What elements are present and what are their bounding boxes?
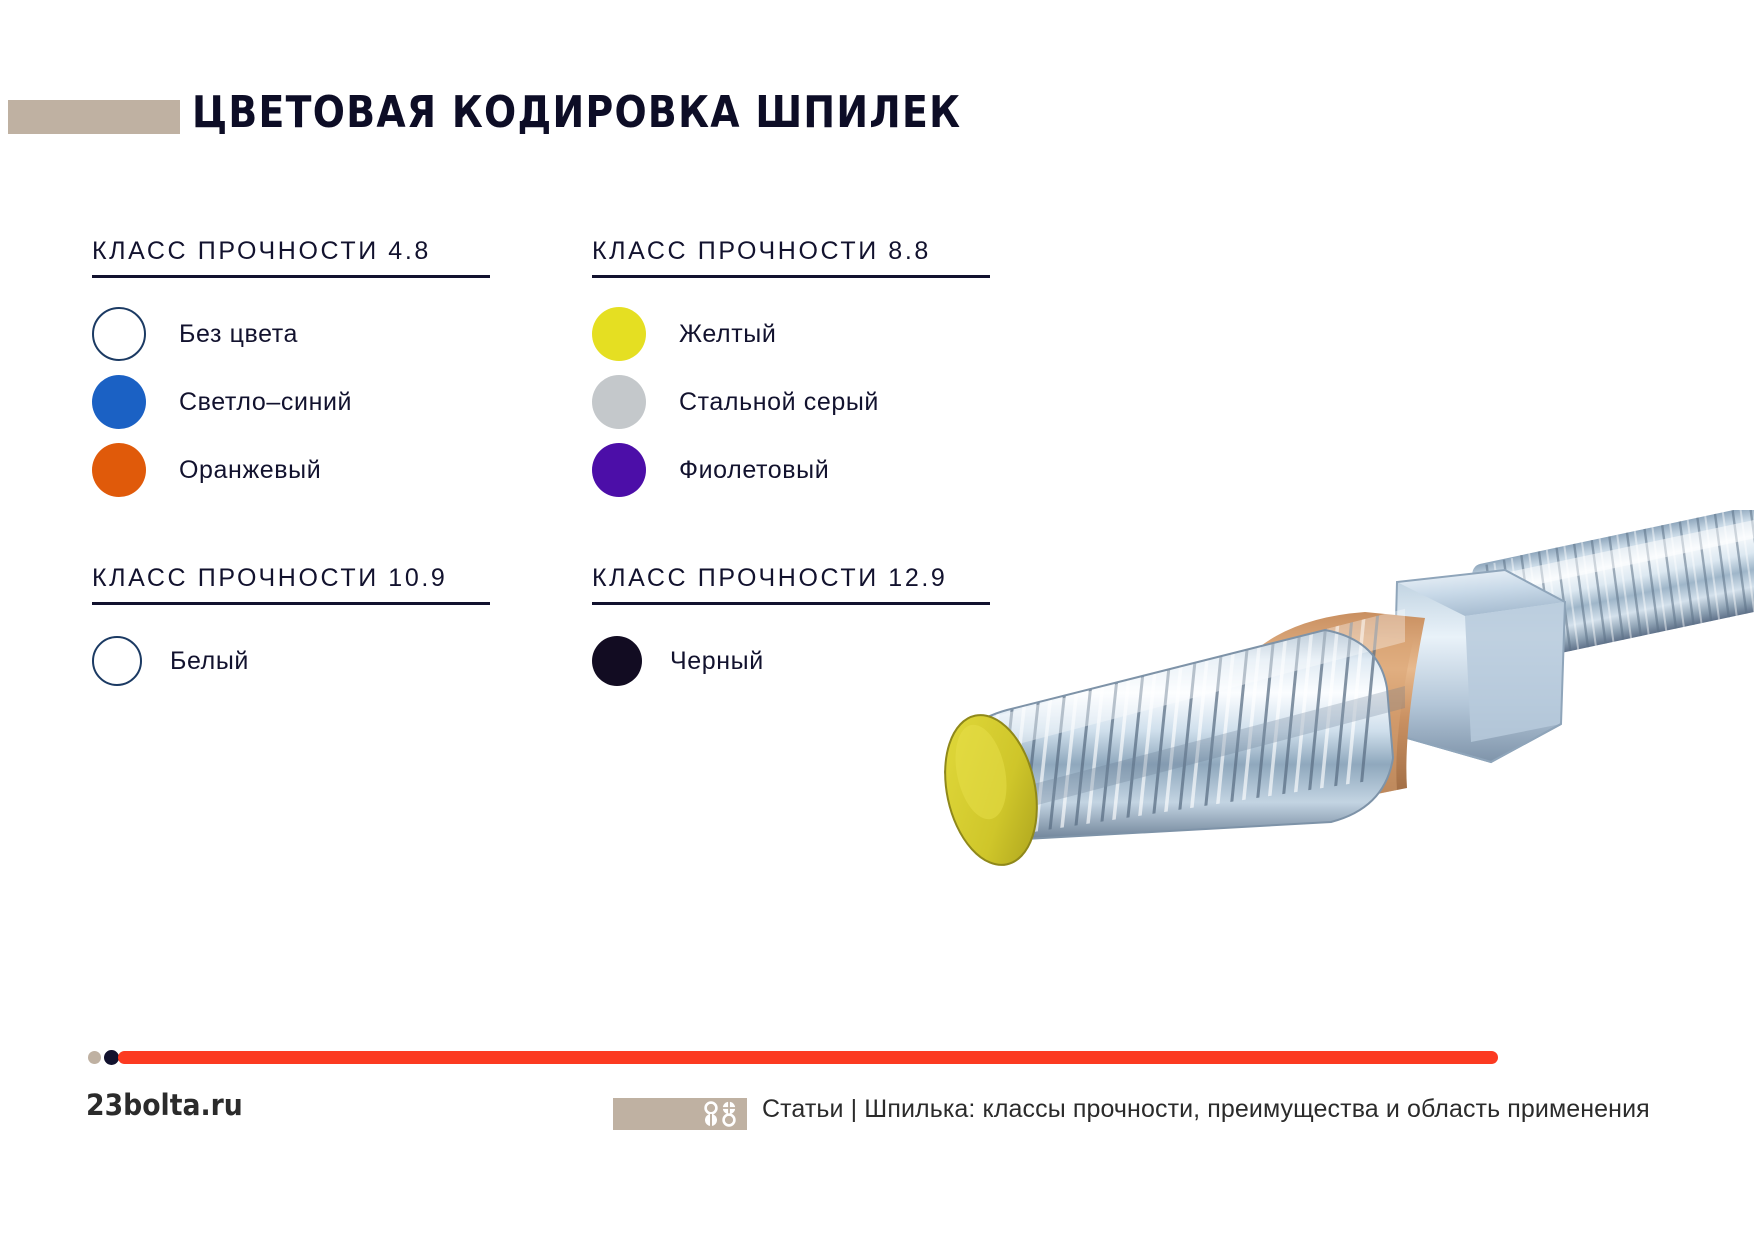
swatch-label: Оранжевый xyxy=(179,456,321,485)
block-divider xyxy=(92,602,490,605)
list-item[interactable]: Светло–синий xyxy=(92,368,532,436)
swatch-list: Белый xyxy=(92,627,532,695)
block-heading: КЛАСС ПРОЧНОСТИ 4.8 xyxy=(92,236,532,266)
strength-class-block-8-8: КЛАСС ПРОЧНОСТИ 8.8 Желтый Стальной серы… xyxy=(592,236,1032,504)
bolt-illustration xyxy=(905,510,1754,910)
breadcrumb[interactable]: Статьи | Шпилька: классы прочности, преи… xyxy=(762,1095,1650,1124)
logo-chip xyxy=(613,1098,747,1130)
swatch-label: Без цвета xyxy=(179,320,298,349)
block-heading: КЛАСС ПРОЧНОСТИ 8.8 xyxy=(592,236,1032,266)
bolt-photo xyxy=(905,510,1754,910)
strength-class-block-10-9: КЛАСС ПРОЧНОСТИ 10.9 Белый xyxy=(92,563,532,695)
color-swatch-black-icon xyxy=(592,636,642,686)
block-heading: КЛАСС ПРОЧНОСТИ 10.9 xyxy=(92,563,532,593)
swatch-label: Стальной серый xyxy=(679,388,879,417)
color-swatch-none-icon xyxy=(92,307,146,361)
block-divider xyxy=(92,275,490,278)
color-swatch-steel-gray-icon xyxy=(592,375,646,429)
color-swatch-white-icon xyxy=(92,636,142,686)
block-divider xyxy=(592,275,990,278)
swatch-label: Белый xyxy=(170,647,249,676)
list-item[interactable]: Стальной серый xyxy=(592,368,1032,436)
swatch-label: Желтый xyxy=(679,320,776,349)
slide-root: ЦВЕТОВАЯ КОДИРОВКА ШПИЛЕК КЛАСС ПРОЧНОСТ… xyxy=(0,0,1754,1240)
list-item[interactable]: Фиолетовый xyxy=(592,436,1032,504)
swatch-label: Черный xyxy=(670,647,764,676)
list-item[interactable]: Желтый xyxy=(592,300,1032,368)
strength-class-block-4-8: КЛАСС ПРОЧНОСТИ 4.8 Без цвета Светло–син… xyxy=(92,236,532,504)
swatch-list: Желтый Стальной серый Фиолетовый xyxy=(592,300,1032,504)
color-swatch-yellow-icon xyxy=(592,307,646,361)
color-swatch-light-blue-icon xyxy=(92,375,146,429)
site-name[interactable]: 23bolta.ru xyxy=(86,1088,243,1122)
swatch-label: Светло–синий xyxy=(179,388,352,417)
title-accent-bar xyxy=(8,100,180,134)
swatch-label: Фиолетовый xyxy=(679,456,829,485)
swatch-list: Без цвета Светло–синий Оранжевый xyxy=(92,300,532,504)
bolts-grid-icon xyxy=(702,1101,742,1127)
footer-dot-dark xyxy=(104,1050,119,1065)
list-item[interactable]: Белый xyxy=(92,627,532,695)
color-swatch-violet-icon xyxy=(592,443,646,497)
page-title: ЦВЕТОВАЯ КОДИРОВКА ШПИЛЕК xyxy=(192,85,961,141)
list-item[interactable]: Без цвета xyxy=(92,300,532,368)
footer-dot-tan xyxy=(88,1051,101,1064)
footer-red-rule xyxy=(118,1051,1498,1064)
color-swatch-orange-icon xyxy=(92,443,146,497)
list-item[interactable]: Оранжевый xyxy=(92,436,532,504)
